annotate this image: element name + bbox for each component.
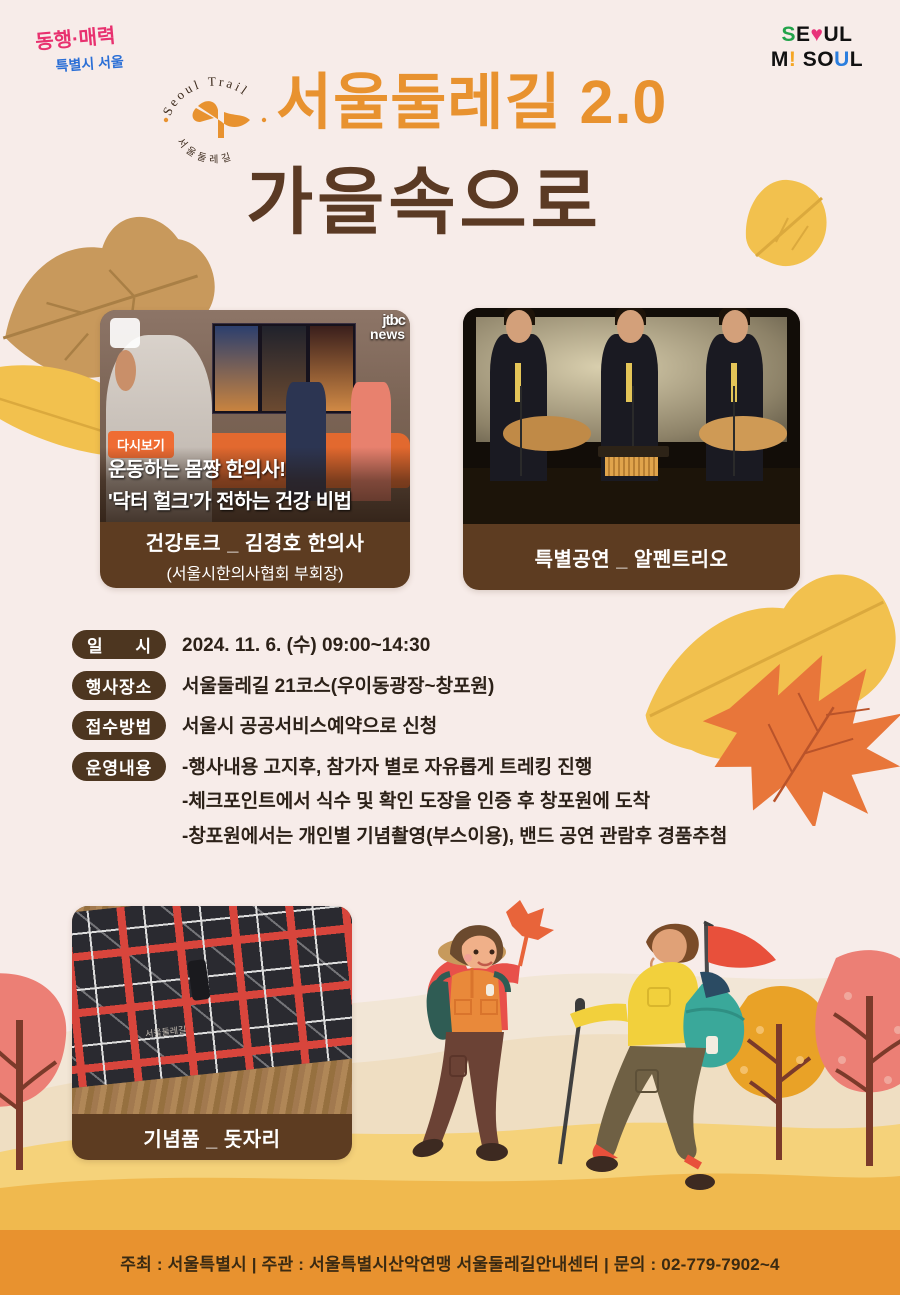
info-value-registration: 서울시 공공서비스예약으로 신청 bbox=[182, 711, 437, 742]
page-title-sub: 가을속으로 bbox=[246, 166, 602, 239]
seoul-my-soul-logo: SE♥UL M! SOUL bbox=[762, 24, 872, 80]
info-line: 서울둘레길 21코스(우이동광장~창포원) bbox=[182, 673, 494, 702]
seoul-brand-logo: 동행·매력 특별시 서울 bbox=[28, 22, 146, 80]
special-show-photo bbox=[463, 308, 800, 524]
health-talk-caption: 건강토크 _ 김경호 한의사 (서울시한의사협회 부회장) bbox=[100, 522, 410, 588]
info-label-venue: 행사장소 bbox=[72, 671, 166, 700]
event-info-block: 일 시 2024. 11. 6. (수) 09:00~14:30 행사장소 서울… bbox=[72, 630, 862, 861]
leaf-decor-right-top bbox=[726, 168, 846, 278]
brand-logo-line1-text: 동행·매력 bbox=[34, 24, 116, 54]
headline-line-1: 운동하는 몸짱 한의사! bbox=[108, 453, 402, 482]
sms-line-2: M! SOUL bbox=[762, 49, 872, 70]
info-line: 서울시 공공서비스예약으로 신청 bbox=[182, 713, 437, 742]
jtbc-news-logo: jtbc news bbox=[370, 314, 405, 342]
info-value-program: -행사내용 고지후, 참가자 별로 자유롭게 트레킹 진행 -체크포인트에서 식… bbox=[182, 752, 727, 852]
footer-bar: 주최 : 서울특별시 | 주관 : 서울특별시산악연맹 서울둘레길안내센터 | … bbox=[0, 1230, 900, 1295]
health-talk-photo: jtbc news 다시보기 운동하는 몸짱 한의사! '닥터 헐크'가 전하는… bbox=[100, 310, 410, 522]
souvenir-caption: 기념품 _ 돗자리 bbox=[72, 1114, 352, 1160]
brand-logo-line2-text: 특별시 서울 bbox=[55, 53, 124, 74]
info-value-venue: 서울둘레길 21코스(우이동광장~창포원) bbox=[182, 671, 494, 702]
caption-sub: (서울시한의사협회 부회장) bbox=[166, 560, 343, 584]
flag-icon bbox=[706, 922, 776, 968]
info-row-venue: 행사장소 서울둘레길 21코스(우이동광장~창포원) bbox=[72, 671, 862, 702]
caption-main: 건강토크 _ 김경호 한의사 bbox=[146, 527, 365, 556]
card-special-show[interactable]: 특별공연 _ 알펜트리오 bbox=[463, 308, 800, 590]
sms-line-1: SE♥UL bbox=[762, 24, 872, 45]
info-line: 2024. 11. 6. (수) 09:00~14:30 bbox=[182, 632, 430, 661]
souvenir-photo: 서울둘레길 bbox=[72, 906, 352, 1114]
info-row-program: 운영내용 -행사내용 고지후, 참가자 별로 자유롭게 트레킹 진행 -체크포인… bbox=[72, 752, 862, 852]
news-logo-text: news bbox=[370, 328, 405, 341]
seoul-trail-emblem: Seoul Trail 서울둘레길 bbox=[156, 58, 274, 170]
info-row-registration: 접수방법 서울시 공공서비스예약으로 신청 bbox=[72, 711, 862, 742]
info-line: -체크포인트에서 식수 및 확인 도장을 인증 후 창포원에 도착 bbox=[182, 788, 727, 817]
info-label-date: 일 시 bbox=[72, 630, 166, 659]
info-line: -창포원에서는 개인별 기념촬영(부스이용), 밴드 공연 관람후 경품추첨 bbox=[182, 823, 727, 852]
program-badge-icon bbox=[110, 318, 140, 348]
headline-line-2: '닥터 헐크'가 전하는 건강 비법 bbox=[108, 485, 402, 514]
info-line: -행사내용 고지후, 참가자 별로 자유롭게 트레킹 진행 bbox=[182, 754, 727, 783]
trail-emblem-bottom-text: 서울둘레길 bbox=[175, 136, 237, 166]
page-title-main: 서울둘레길 2.0 bbox=[276, 72, 667, 133]
info-label-program: 운영내용 bbox=[72, 752, 166, 781]
special-show-caption: 특별공연 _ 알펜트리오 bbox=[463, 524, 800, 590]
info-label-registration: 접수방법 bbox=[72, 711, 166, 740]
card-health-talk[interactable]: jtbc news 다시보기 운동하는 몸짱 한의사! '닥터 헐크'가 전하는… bbox=[100, 310, 410, 588]
caption-main: 특별공연 _ 알펜트리오 bbox=[535, 543, 729, 572]
caption-main: 기념품 _ 돗자리 bbox=[143, 1123, 280, 1152]
footer-credits: 주최 : 서울특별시 | 주관 : 서울특별시산악연맹 서울둘레길안내센터 | … bbox=[120, 1250, 779, 1275]
card-souvenir[interactable]: 서울둘레길 기념품 _ 돗자리 bbox=[72, 906, 352, 1160]
health-talk-headline: 운동하는 몸짱 한의사! '닥터 헐크'가 전하는 건강 비법 bbox=[100, 447, 410, 522]
poster-root: 동행·매력 특별시 서울 SE♥UL M! SOUL Seoul Trail 서… bbox=[0, 0, 900, 1295]
info-value-date: 2024. 11. 6. (수) 09:00~14:30 bbox=[182, 630, 430, 661]
info-row-date: 일 시 2024. 11. 6. (수) 09:00~14:30 bbox=[72, 630, 862, 661]
